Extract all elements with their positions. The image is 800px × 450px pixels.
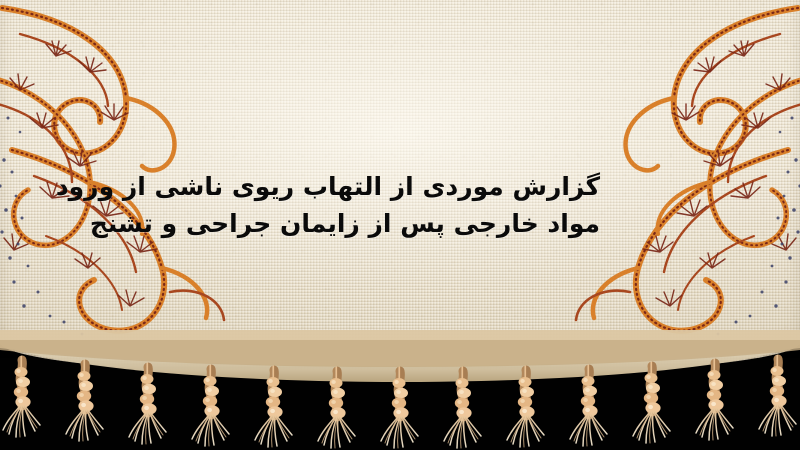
title-line-2: مواد خارجی پس از زایمان جراحی و تشنج: [200, 205, 600, 242]
article-title: گزارش موردی از التهاب ریوی ناشی از ورود …: [0, 168, 800, 242]
title-card-canvas: گزارش موردی از التهاب ریوی ناشی از ورود …: [0, 0, 800, 450]
tassel-row: [3, 359, 796, 448]
title-line-1: گزارش موردی از التهاب ریوی ناشی از ورود: [200, 168, 600, 205]
tassel-fringe: [0, 330, 800, 450]
